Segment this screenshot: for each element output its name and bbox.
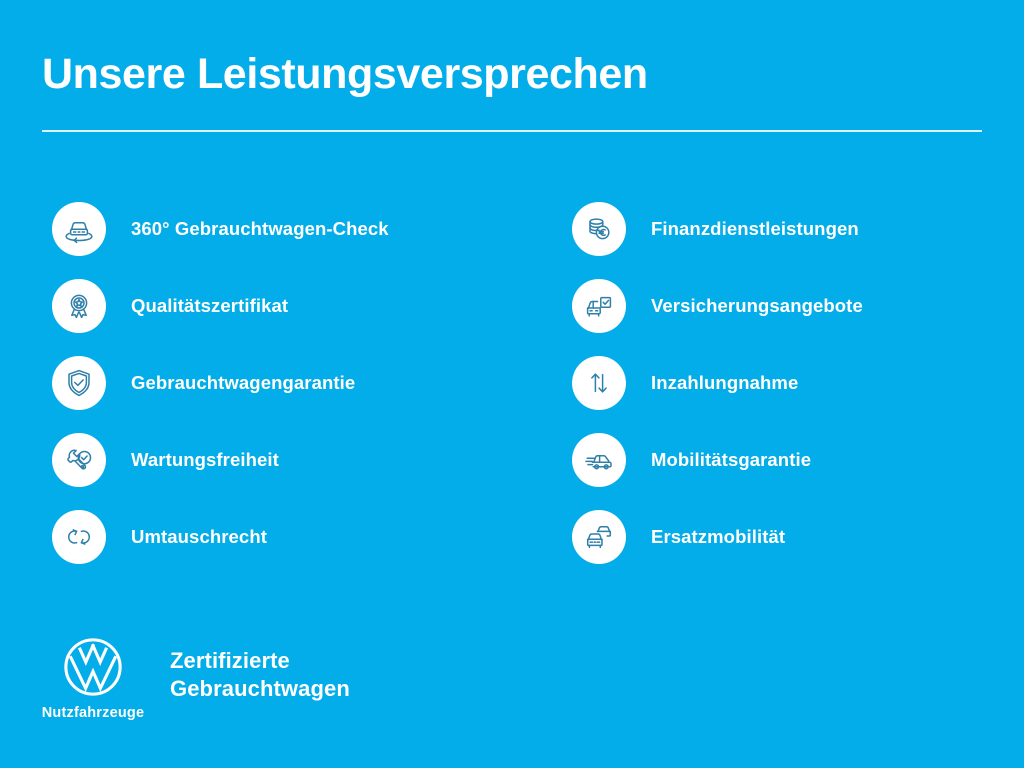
brand-mark: Nutzfahrzeuge	[40, 636, 146, 721]
feature-item-mobilitaetsgarantie[interactable]: Mobilitätsgarantie	[572, 433, 1002, 487]
feature-item-umtauschrecht[interactable]: Umtauschrecht	[52, 510, 522, 564]
brand-line-1: Zertifizierte	[170, 647, 350, 675]
exchange-arrows-icon	[52, 510, 106, 564]
feature-item-gebrauchtwagen-check[interactable]: 360° Gebrauchtwagen-Check	[52, 202, 522, 256]
car-motion-icon	[572, 433, 626, 487]
feature-label: Versicherungsangebote	[651, 295, 863, 317]
two-cars-icon	[572, 510, 626, 564]
feature-grid: 360° Gebrauchtwagen-Check Qualitätsz	[0, 202, 1024, 564]
coins-euro-icon	[572, 202, 626, 256]
feature-label: Finanzdienstleistungen	[651, 218, 859, 240]
wrench-check-icon	[52, 433, 106, 487]
brand-footer: Nutzfahrzeuge Zertifizierte Gebrauchtwag…	[40, 636, 350, 721]
brand-sub-label: Nutzfahrzeuge	[42, 705, 145, 721]
feature-label: Umtauschrecht	[131, 526, 267, 548]
feature-label: Mobilitätsgarantie	[651, 449, 811, 471]
car-checklist-icon	[572, 279, 626, 333]
feature-item-wartungsfreiheit[interactable]: Wartungsfreiheit	[52, 433, 522, 487]
feature-label: Wartungsfreiheit	[131, 449, 279, 471]
slide-canvas: Unsere Leistungsversprechen	[0, 0, 1024, 768]
feature-label: 360° Gebrauchtwagen-Check	[131, 218, 389, 240]
brand-text: Zertifizierte Gebrauchtwagen	[170, 647, 350, 703]
page-title: Unsere Leistungsversprechen	[42, 48, 982, 100]
feature-column-left: 360° Gebrauchtwagen-Check Qualitätsz	[52, 202, 522, 564]
feature-label: Inzahlungnahme	[651, 372, 798, 394]
vw-logo-icon	[62, 636, 124, 698]
feature-label: Qualitätszertifikat	[131, 295, 288, 317]
feature-item-versicherungsangebote[interactable]: Versicherungsangebote	[572, 279, 1002, 333]
header: Unsere Leistungsversprechen	[42, 48, 982, 132]
arrows-up-down-icon	[572, 356, 626, 410]
feature-item-ersatzmobilitaet[interactable]: Ersatzmobilität	[572, 510, 1002, 564]
feature-item-qualitaetszertifikat[interactable]: Qualitätszertifikat	[52, 279, 522, 333]
feature-item-finanzdienstleistungen[interactable]: Finanzdienstleistungen	[572, 202, 1002, 256]
feature-item-inzahlungnahme[interactable]: Inzahlungnahme	[572, 356, 1002, 410]
brand-line-2: Gebrauchtwagen	[170, 675, 350, 703]
award-rosette-icon	[52, 279, 106, 333]
feature-item-gebrauchtwagengarantie[interactable]: Gebrauchtwagengarantie	[52, 356, 522, 410]
shield-check-icon	[52, 356, 106, 410]
car-360-check-icon	[52, 202, 106, 256]
title-divider	[42, 130, 982, 132]
feature-column-right: Finanzdienstleistungen	[572, 202, 1002, 564]
feature-label: Ersatzmobilität	[651, 526, 785, 548]
feature-label: Gebrauchtwagengarantie	[131, 372, 355, 394]
